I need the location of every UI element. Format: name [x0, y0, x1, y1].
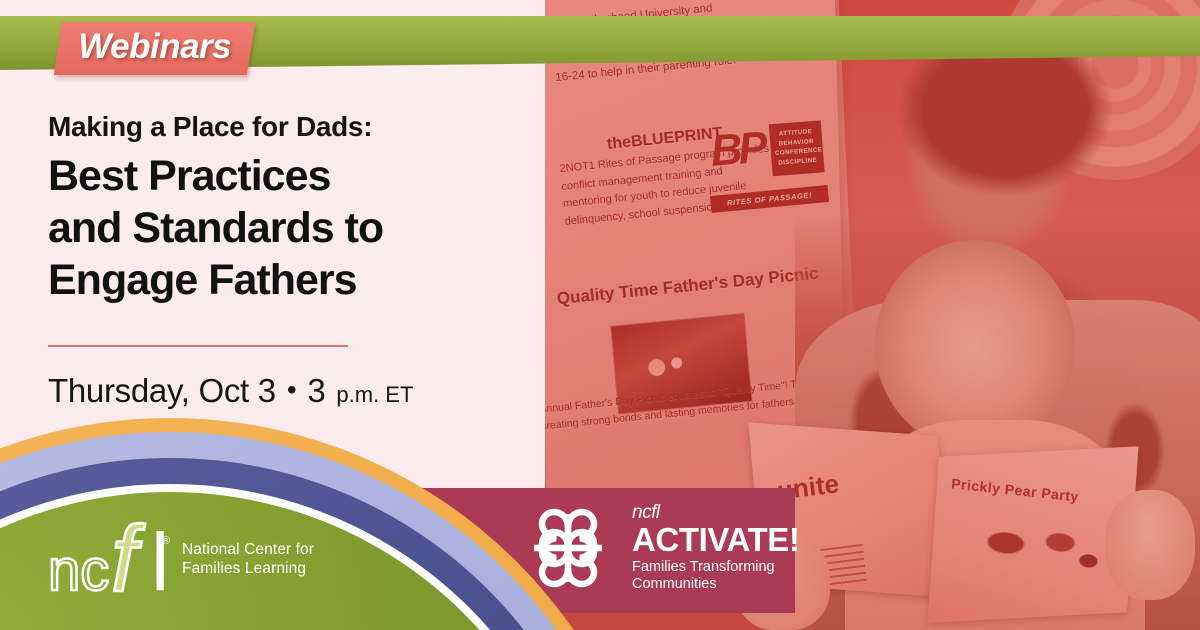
- page-title: Best Practices and Standards to Engage F…: [48, 150, 518, 306]
- ncfl-activate-logo: ncfl ACTIVATE! Families Transforming Com…: [518, 498, 800, 598]
- activate-tagline-line-2: Communities: [632, 576, 800, 594]
- webinar-promo-card: ...ort for Young Fathers Teen Fatherhood…: [0, 0, 1200, 630]
- headline-kicker: Making a Place for Dads:: [48, 110, 518, 144]
- bullet-separator-icon: •: [287, 376, 297, 404]
- ncfl-mark-nc: nc: [48, 542, 109, 600]
- activate-tagline: Families Transforming Communities: [632, 559, 800, 594]
- webinars-badge: Webinars: [54, 22, 255, 75]
- event-time-suffix: p.m. ET: [336, 382, 413, 408]
- headline-line-1: Best Practices: [48, 152, 330, 200]
- activate-wordmark: ncfl ACTIVATE! Families Transforming Com…: [632, 503, 800, 594]
- ncfl-name-line-1: National Center for: [182, 540, 314, 559]
- headline-line-2: and Standards to: [48, 204, 383, 252]
- registered-trademark-icon: ®: [162, 536, 170, 547]
- activate-title: ACTIVATE!: [632, 523, 800, 557]
- headline-block: Making a Place for Dads: Best Practices …: [48, 110, 518, 306]
- ncfl-full-name: National Center for Families Learning: [176, 540, 314, 578]
- activate-tagline-line-1: Families Transforming: [632, 559, 800, 577]
- ncfl-logo: nc f l ® National Center for Families Le…: [48, 520, 314, 598]
- ncfl-mark-f: f: [111, 512, 137, 606]
- event-dateline: Thursday, Oct 3 • 3 p.m. ET: [48, 372, 413, 410]
- ncfl-wordmark: nc f l ®: [48, 520, 166, 598]
- webinars-badge-label: Webinars: [78, 28, 231, 66]
- activate-knot-icon: [518, 498, 618, 598]
- event-date: Thursday, Oct 3: [48, 372, 276, 410]
- ncfl-name-line-2: Families Learning: [182, 559, 314, 578]
- event-time: 3: [307, 372, 325, 410]
- activate-ncfl-label: ncfl: [632, 503, 800, 522]
- divider-rule: [48, 345, 348, 347]
- headline-line-3: Engage Fathers: [48, 256, 357, 304]
